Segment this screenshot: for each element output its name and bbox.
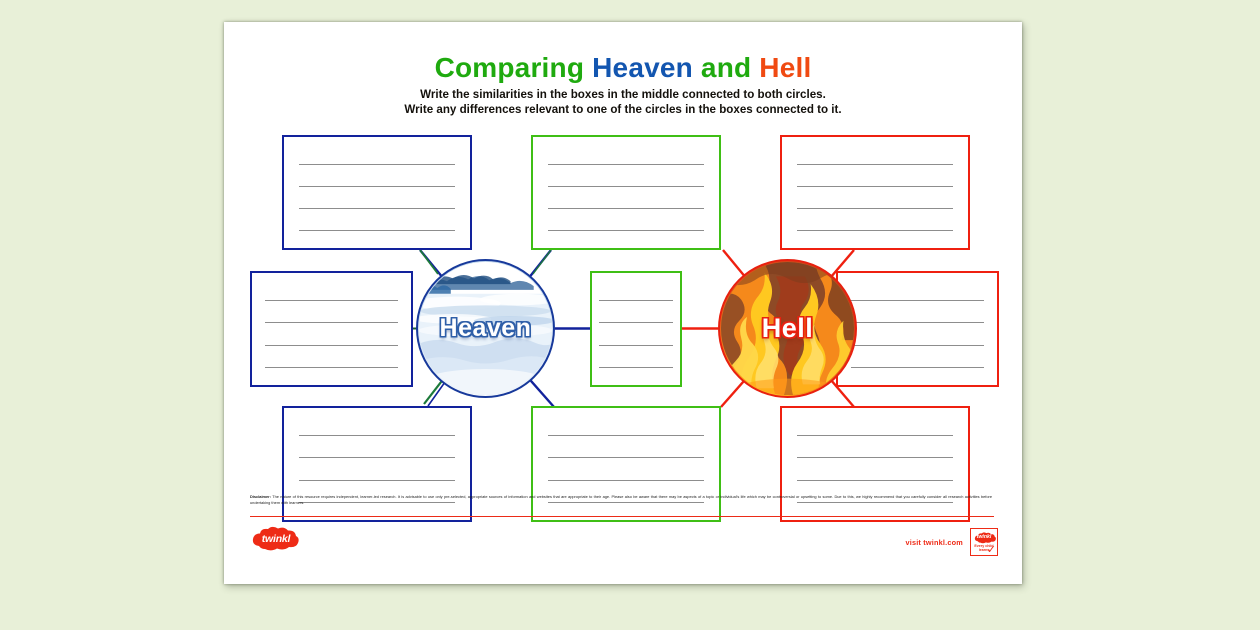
- box-hell-difference-middle[interactable]: [836, 271, 999, 387]
- footer-right-group: visit twinkl.com twinkl Every child lear…: [905, 528, 998, 556]
- heaven-label: Heaven: [440, 314, 532, 343]
- writing-lines: [548, 137, 704, 248]
- twinkl-logo[interactable]: twinkl: [251, 526, 301, 552]
- check-icon: ✓: [987, 546, 996, 555]
- footer-divider: [250, 516, 994, 517]
- twinkl-cloud-icon: twinkl: [251, 526, 301, 552]
- disclaimer-text: The nature of this resource requires ind…: [250, 494, 992, 505]
- hell-label: Hell: [762, 313, 814, 344]
- writing-lines: [265, 273, 399, 385]
- box-similarity-top[interactable]: [531, 135, 721, 250]
- disclaimer: Disclaimer: The nature of this resource …: [250, 494, 992, 506]
- hell-circle[interactable]: Hell: [718, 259, 857, 398]
- twinkl-badge[interactable]: twinkl Every child learns ✓: [970, 528, 998, 556]
- screenshot-canvas: Comparing Heaven and Hell Write the simi…: [0, 0, 1260, 630]
- worksheet-page: Comparing Heaven and Hell Write the simi…: [224, 22, 1022, 584]
- twinkl-wordmark: twinkl: [251, 526, 301, 552]
- writing-lines: [299, 137, 455, 248]
- writing-lines: [599, 273, 673, 385]
- heaven-circle[interactable]: Heaven: [416, 259, 555, 398]
- disclaimer-label: Disclaimer:: [250, 494, 271, 499]
- visit-twinkl-link[interactable]: visit twinkl.com: [905, 538, 963, 547]
- box-hell-difference-top[interactable]: [780, 135, 970, 250]
- writing-lines: [851, 273, 985, 385]
- box-heaven-difference-top[interactable]: [282, 135, 472, 250]
- badge-wordmark: twinkl: [971, 531, 997, 543]
- box-heaven-difference-middle[interactable]: [250, 271, 413, 387]
- box-similarity-middle[interactable]: [590, 271, 682, 387]
- writing-lines: [797, 137, 953, 248]
